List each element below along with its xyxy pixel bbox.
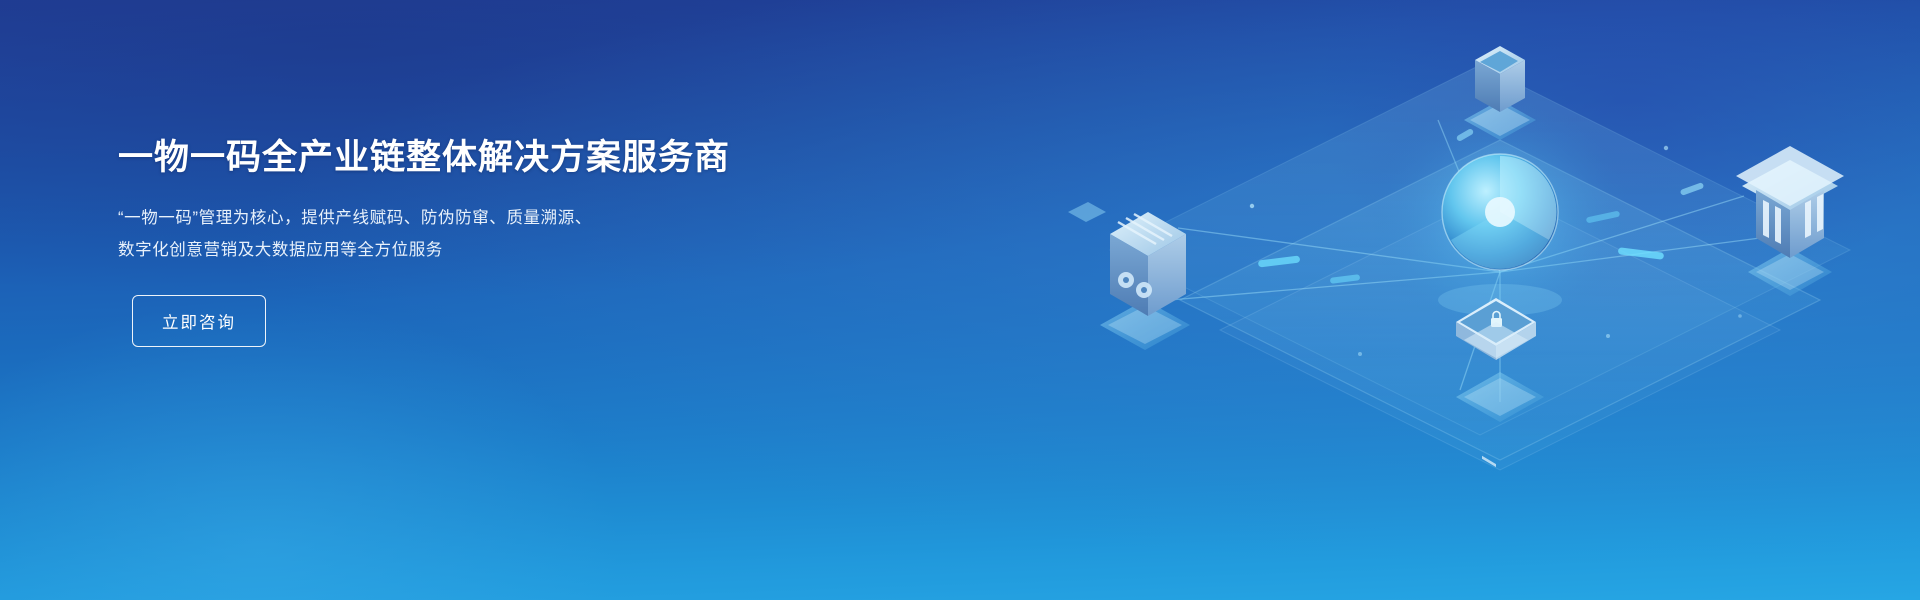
subtitle-line-1: “一物一码”管理为核心，提供产线赋码、防伪防窜、质量溯源、	[118, 202, 878, 234]
page-title: 一物一码全产业链整体解决方案服务商	[118, 136, 878, 180]
hero-illustration	[860, 0, 1920, 600]
hero-copy: 一物一码全产业链整体解决方案服务商 “一物一码”管理为核心，提供产线赋码、防伪防…	[118, 136, 878, 347]
consult-now-button[interactable]: 立即咨询	[132, 295, 266, 347]
subtitle-line-2: 数字化创意营销及大数据应用等全方位服务	[118, 234, 878, 266]
hero-banner: 一物一码全产业链整体解决方案服务商 “一物一码”管理为核心，提供产线赋码、防伪防…	[0, 0, 1920, 600]
hero-subtitle: “一物一码”管理为核心，提供产线赋码、防伪防窜、质量溯源、 数字化创意营销及大数…	[118, 202, 878, 266]
